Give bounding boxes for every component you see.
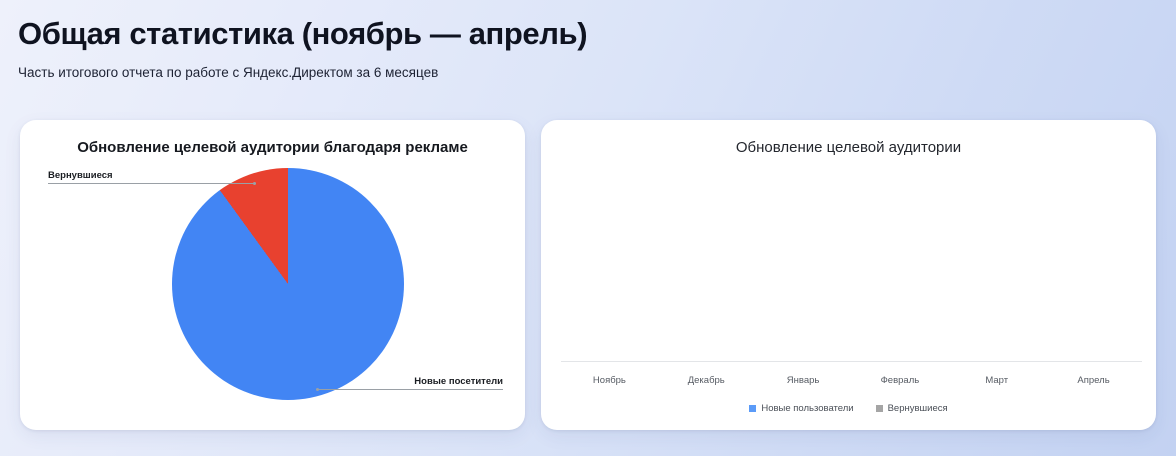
x-axis-label-4: Март xyxy=(949,375,1045,386)
pie-leader-line-returning xyxy=(48,183,256,184)
x-axis-label-0: Ноябрь xyxy=(561,375,657,386)
pie-slice-label-new-visitors: Новые посетители xyxy=(414,376,503,387)
legend-label: Вернувшиеся xyxy=(888,403,948,414)
pie-slice-label-returning: Вернувшиеся xyxy=(48,170,113,181)
x-axis-baseline xyxy=(561,361,1142,362)
bar-chart-plot-area xyxy=(561,180,1142,362)
pie-leader-line-new-visitors xyxy=(318,389,503,390)
bar-group[interactable] xyxy=(658,179,754,361)
pie-chart: Вернувшиеся Новые посетители xyxy=(20,120,525,430)
bar-chart-title: Обновление целевой аудитории xyxy=(541,139,1156,156)
page-header: Общая статистика (ноябрь — апрель) Часть… xyxy=(18,14,1018,82)
page-title: Общая статистика (ноябрь — апрель) xyxy=(18,14,1018,54)
bar-chart-legend: Новые пользователиВернувшиеся xyxy=(541,403,1156,414)
x-axis-label-5: Апрель xyxy=(1045,375,1141,386)
legend-item-1[interactable]: Вернувшиеся xyxy=(876,403,948,414)
bar-chart-card: Обновление целевой аудитории НоябрьДекаб… xyxy=(541,120,1156,430)
legend-swatch-icon xyxy=(749,405,756,412)
x-axis-label-3: Февраль xyxy=(852,375,948,386)
bar-group[interactable] xyxy=(949,179,1045,361)
bar-series-container xyxy=(561,179,1142,361)
x-axis-labels: НоябрьДекабрьЯнварьФевральМартАпрель xyxy=(561,375,1142,386)
pie-leader-dot-returning xyxy=(253,182,256,185)
x-axis-label-2: Январь xyxy=(755,375,851,386)
legend-item-0[interactable]: Новые пользователи xyxy=(749,403,853,414)
pie-leader-dot-new-visitors xyxy=(316,388,319,391)
pie-chart-card: Обновление целевой аудитории благодаря р… xyxy=(20,120,525,430)
bar-group[interactable] xyxy=(852,179,948,361)
x-axis-label-1: Декабрь xyxy=(658,375,754,386)
bar-group[interactable] xyxy=(561,179,657,361)
legend-label: Новые пользователи xyxy=(761,403,853,414)
pie-graphic xyxy=(172,168,404,400)
bar-group[interactable] xyxy=(755,179,851,361)
bar-group[interactable] xyxy=(1045,179,1141,361)
legend-swatch-icon xyxy=(876,405,883,412)
page-subtitle: Часть итогового отчета по работе с Яндек… xyxy=(18,64,1018,82)
